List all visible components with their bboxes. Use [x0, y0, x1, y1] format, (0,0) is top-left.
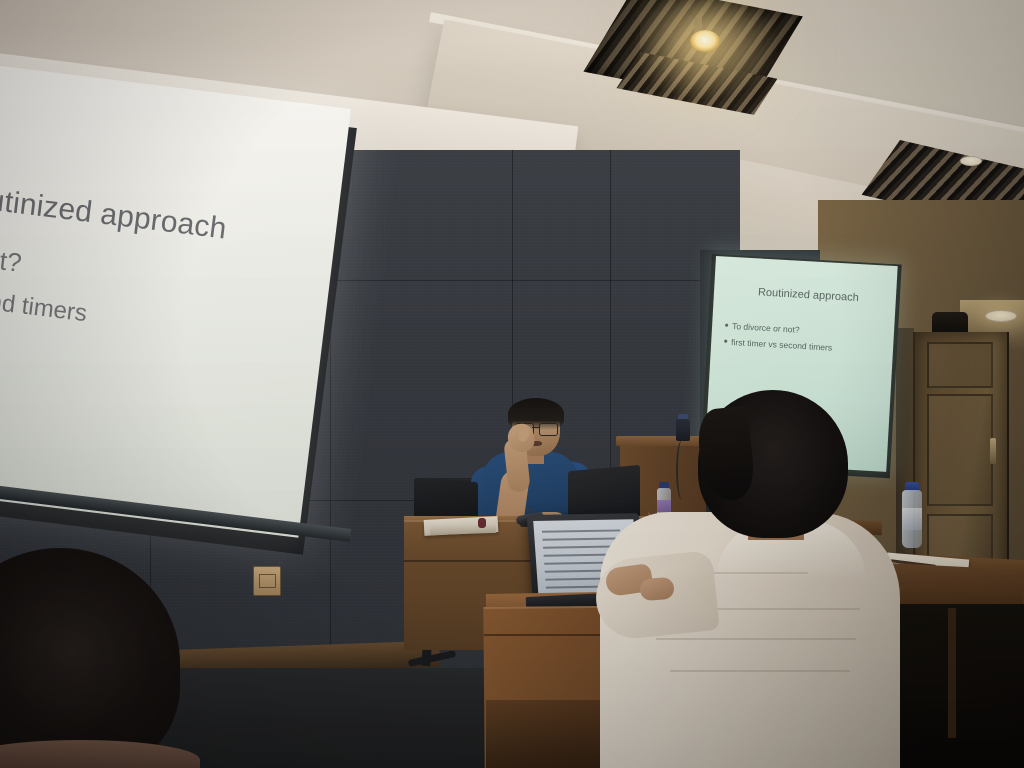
microphone-secondary	[478, 518, 486, 528]
door-panel-top	[927, 342, 993, 388]
glasses-lens-right	[539, 423, 558, 436]
door-handle[interactable]	[990, 438, 996, 464]
downlight-icon-7	[985, 310, 1017, 322]
document-text-line	[543, 546, 613, 549]
main-slide-bullet-1: ce or not?	[0, 234, 23, 279]
conference-room-photo: Routinized approach ce or not? r vs seco…	[0, 0, 1024, 768]
ceiling-spotlight-icon	[690, 30, 720, 52]
shirt-fold	[656, 638, 856, 640]
wall-power-outlet[interactable]	[253, 566, 281, 596]
podium-top-surface	[616, 436, 710, 446]
document-text-line	[545, 578, 603, 581]
bullet-dot-icon	[725, 324, 728, 327]
water-bottle-table-label	[902, 508, 922, 530]
glasses-bridge	[532, 427, 539, 428]
attendee-hand-right	[639, 577, 674, 601]
cable	[676, 440, 688, 500]
bullet-dot-icon	[724, 340, 727, 343]
main-projection-screen[interactable]: Routinized approach ce or not? r vs seco…	[0, 60, 351, 538]
document-text-line	[544, 562, 608, 565]
shirt-fold	[670, 670, 850, 672]
downlight-icon-6	[960, 156, 982, 166]
main-slide-title: Routinized approach	[0, 179, 228, 247]
secondary-slide-bullet-2: first timer vs second timers	[731, 337, 832, 353]
main-slide-bullet-2: r vs second timers	[0, 277, 88, 329]
door-panel-middle	[927, 394, 993, 506]
document-text-line	[542, 529, 620, 532]
podium-bottle	[676, 419, 690, 441]
secondary-slide-title: Routinized approach	[758, 286, 859, 304]
secondary-slide-bullet-1: To divorce or not?	[732, 321, 800, 335]
table-leg	[948, 608, 956, 738]
